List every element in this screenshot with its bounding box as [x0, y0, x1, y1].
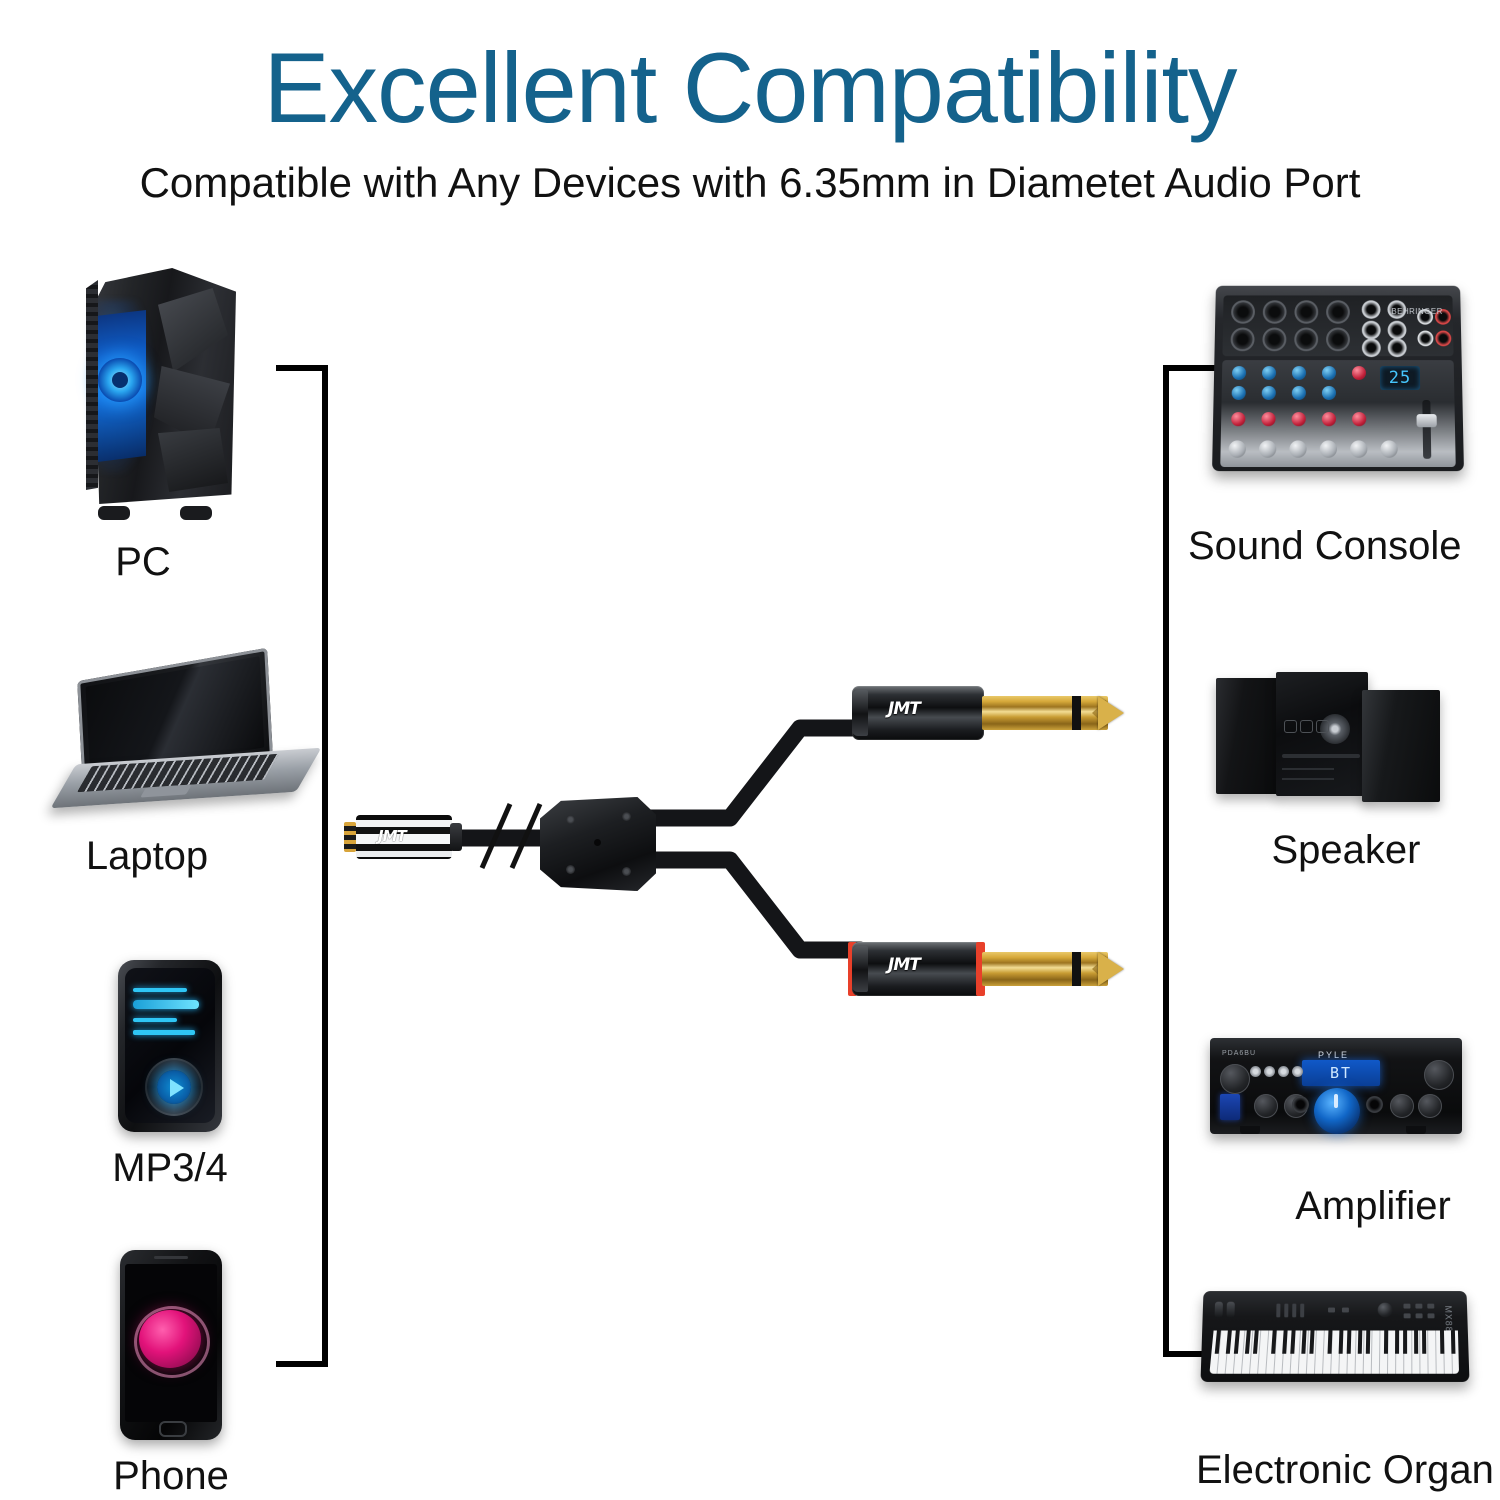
keyboard-slider [1292, 1304, 1296, 1318]
mixer-main-fader-knob [1416, 414, 1436, 427]
device-laptop: Laptop [66, 664, 328, 894]
speaker-right-enclosure [1362, 690, 1440, 802]
pc-front-vent [86, 280, 98, 490]
keyboard-button [1427, 1304, 1434, 1309]
mixer-preset-display: 25 [1380, 366, 1420, 390]
speaker-left-enclosure [1216, 678, 1278, 794]
smartphone-icon [120, 1250, 222, 1440]
xlr-input-jack [1263, 300, 1287, 323]
speaker-control-button [1300, 720, 1313, 733]
amplifier-foot [1406, 1126, 1426, 1134]
mp3-center-button [157, 1070, 191, 1104]
jmt-brand-logo: JMT [888, 699, 920, 719]
device-pc: PC [62, 262, 328, 592]
device-amplifier: PDA6BU PYLE BT Amplifier [1210, 1032, 1472, 1222]
bracket-vertical-line [1163, 365, 1169, 1357]
amplifier-model-mark: PDA6BU [1222, 1050, 1256, 1057]
mixer-eq-knob [1262, 386, 1276, 400]
keyboard-slider [1284, 1304, 1288, 1318]
amplifier-display: BT [1302, 1060, 1380, 1086]
mixer-input-section: BEHRINGER [1222, 295, 1453, 356]
jack-contacts [344, 822, 356, 852]
plug-tip [1098, 696, 1124, 730]
xlr-input-jack [1230, 328, 1254, 352]
mixer-aux-knob [1352, 366, 1366, 380]
mixer-aux-knob [1231, 412, 1245, 426]
mixer-level-knob [1320, 440, 1337, 457]
splitter-screw [566, 865, 575, 874]
mixer-aux-knob [1261, 412, 1275, 426]
jmt-brand-logo: JMT [378, 827, 406, 845]
speaker-system-icon [1212, 670, 1444, 812]
device-electronic-organ: MX88 Electronic Organ [1202, 1290, 1482, 1490]
mp3-player-icon [118, 960, 222, 1132]
amplifier-function-knob [1424, 1060, 1454, 1090]
mixer-gain-knob [1322, 366, 1336, 380]
keyboard-control-panel: MX88 [1210, 1298, 1459, 1327]
trs-jack [1362, 338, 1381, 357]
keyboard-slider [1276, 1304, 1280, 1318]
amplifier-preset-button [1264, 1066, 1275, 1077]
plug-shaft [982, 952, 1108, 986]
mic-input-jack [1292, 1096, 1309, 1113]
page-title: Excellent Compatibility [0, 36, 1500, 140]
xlr-input-jack [1326, 328, 1350, 352]
amplifier-icon: PDA6BU PYLE BT [1210, 1032, 1462, 1152]
amplifier-preset-button [1278, 1066, 1289, 1077]
mixer-aux-knob [1292, 412, 1306, 426]
modulation-wheel [1227, 1302, 1235, 1318]
mixer-eq-knob [1232, 386, 1246, 400]
phone-screen [125, 1264, 217, 1422]
infographic-canvas: Excellent Compatibility Compatible with … [0, 0, 1500, 1500]
plug-shaft [982, 696, 1108, 730]
amplifier-brand-mark: PYLE [1318, 1050, 1349, 1060]
mixer-main-fader-track [1422, 400, 1431, 459]
keyboard-chassis: MX88 [1200, 1291, 1469, 1382]
amplifier-preset-button [1250, 1066, 1261, 1077]
mp3-click-wheel [145, 1058, 203, 1116]
rca-jack [1435, 331, 1451, 347]
phone-wallpaper-graphic [139, 1310, 201, 1368]
play-icon [170, 1079, 184, 1097]
device-label-phone: Phone [58, 1454, 284, 1499]
device-label-amplifier: Amplifier [1242, 1184, 1500, 1229]
mp3-waveform-bar [133, 1030, 195, 1035]
trs-jack [1362, 300, 1381, 319]
mixer-chassis: BEHRINGER [1212, 286, 1464, 471]
mixer-level-knob [1350, 440, 1367, 457]
device-label-speaker: Speaker [1216, 828, 1476, 873]
mixer-gain-knob [1262, 366, 1276, 380]
pc-panel-facet [158, 428, 228, 492]
speaker-control-button [1316, 720, 1329, 733]
pc-rgb-fan [98, 358, 142, 402]
speaker-panel-line [1282, 778, 1334, 780]
xlr-input-jack [1294, 300, 1318, 323]
splitter-center-mark [594, 839, 601, 846]
male-plug-left-channel: JMT [826, 676, 1126, 750]
amplifier-power-knob [1220, 1064, 1250, 1094]
speaker-display-strip [1282, 754, 1360, 758]
desktop-pc-tower-icon [62, 262, 272, 522]
mp3-waveform-bar [133, 988, 187, 992]
jack-strain-relief [450, 823, 462, 851]
mixer-aux-knob [1352, 412, 1366, 426]
amplifier-preset-button [1292, 1066, 1303, 1077]
mp3-waveform-bar [133, 1000, 199, 1009]
mixer-gain-knob [1292, 366, 1306, 380]
plug-tip [1098, 952, 1124, 986]
keyboard-black-keys [1211, 1330, 1459, 1353]
keyboard-data-dial [1378, 1303, 1393, 1318]
xlr-input-jack [1231, 300, 1255, 323]
laptop-icon [66, 664, 306, 824]
mixer-eq-knob [1322, 386, 1336, 400]
female-jack-connector: JMT [340, 812, 458, 862]
plug-insulator-ring [1072, 952, 1081, 986]
amplifier-foot [1240, 1126, 1260, 1134]
pc-foot [98, 506, 130, 520]
keyboard-button [1415, 1304, 1422, 1309]
mixer-level-knob [1229, 440, 1246, 457]
mp3-waveform-bar [133, 1018, 177, 1022]
y-splitter-junction [540, 795, 656, 893]
trs-jack [1388, 338, 1407, 357]
device-mp3: MP3/4 [118, 960, 328, 1200]
mixer-level-knob [1380, 440, 1397, 457]
keyboard-button [1328, 1308, 1335, 1313]
phone-home-button [159, 1421, 187, 1437]
amplifier-volume-knob [1314, 1088, 1360, 1134]
keyboard-button [1404, 1313, 1411, 1318]
device-label-laptop: Laptop [16, 834, 278, 879]
speaker-panel-line [1282, 768, 1334, 770]
device-label-mp3: MP3/4 [52, 1146, 288, 1191]
rca-jack [1417, 331, 1433, 347]
amplifier-balance-knob [1418, 1094, 1442, 1118]
mixer-level-knob [1289, 440, 1306, 457]
amplifier-chassis: PDA6BU PYLE BT [1210, 1038, 1462, 1134]
keyboard-model-mark: MX88 [1443, 1306, 1454, 1333]
device-phone: Phone [120, 1250, 330, 1500]
device-sound-console: BEHRINGER [1214, 278, 1474, 578]
jmt-brand-logo: JMT [888, 955, 920, 975]
keyboard-button [1427, 1313, 1434, 1318]
mixer-brand-mark: BEHRINGER [1391, 307, 1443, 316]
mp3-screen [125, 968, 215, 1123]
speaker-control-button [1284, 720, 1297, 733]
device-label-sound-console: Sound Console [1188, 524, 1448, 569]
xlr-input-jack [1262, 328, 1286, 352]
mixer-gain-knob [1232, 366, 1246, 380]
device-speaker: Speaker [1212, 670, 1472, 880]
trs-jack [1388, 321, 1407, 340]
bracket-top-stub [1169, 365, 1215, 371]
xlr-input-jack [1326, 300, 1350, 323]
keyboard-slider [1300, 1304, 1304, 1318]
pitch-wheel [1215, 1302, 1223, 1318]
splitter-screw [622, 812, 631, 821]
trs-jack [1362, 321, 1381, 340]
device-label-electronic-organ: Electronic Organ [1196, 1448, 1476, 1493]
pc-foot [180, 506, 212, 520]
splitter-screw [566, 815, 575, 824]
mixer-aux-knob [1322, 412, 1336, 426]
amplifier-tone-knob [1254, 1094, 1278, 1118]
amplifier-treble-knob [1390, 1094, 1414, 1118]
page-subtitle: Compatible with Any Devices with 6.35mm … [0, 160, 1500, 206]
phone-earpiece [154, 1256, 188, 1259]
keyboard-button [1403, 1304, 1410, 1309]
splitter-screw [622, 867, 631, 876]
amplifier-mode-button [1220, 1094, 1240, 1120]
keyboard-button [1416, 1313, 1423, 1318]
mixer-eq-knob [1292, 386, 1306, 400]
xlr-input-jack [1294, 328, 1318, 352]
audio-mixer-icon: BEHRINGER [1214, 278, 1462, 478]
plug-insulator-ring [1072, 696, 1081, 730]
male-plug-right-channel: JMT [826, 932, 1126, 1006]
keyboard-button [1342, 1308, 1349, 1313]
destination-devices-bracket [1163, 365, 1215, 1357]
mic-input-jack [1366, 1096, 1383, 1113]
mixer-level-knob [1259, 440, 1276, 457]
keyboard-piano-icon: MX88 [1202, 1290, 1468, 1400]
device-label-pc: PC [10, 540, 276, 585]
